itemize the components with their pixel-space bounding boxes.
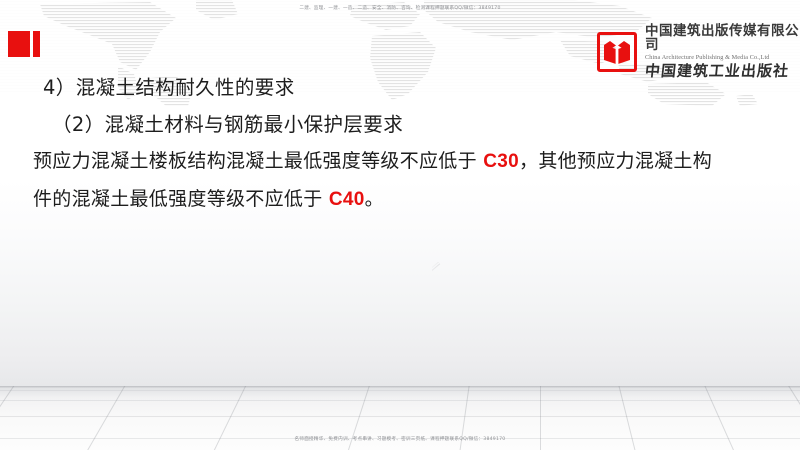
body-line-1-text-before: 预应力混凝土楼板结构混凝土最低强度等级不应低于 — [33, 150, 483, 172]
publisher-company-name-cn: 中国建筑出版传媒有限公司 — [645, 25, 800, 52]
red-block-decoration — [8, 31, 30, 57]
publisher-logo-text: 中国建筑出版传媒有限公司 China Architecture Publishi… — [645, 25, 800, 79]
background-swoosh-accent — [432, 262, 492, 312]
red-bar-decoration — [33, 31, 40, 57]
body-line-2-text-before: 件的混凝土最低强度等级不应低于 — [33, 188, 329, 210]
body-line-2: 件的混凝土最低强度等级不应低于 C40。 — [33, 185, 800, 214]
concrete-grade-c30: C30 — [483, 151, 519, 172]
body-line-1-text-after: ，其他预应力混凝土构 — [519, 150, 712, 172]
body-line-2-text-after: 。 — [365, 188, 384, 210]
slide-content: 4）混凝土结构耐久性的要求 （2）混凝土材料与钢筋最小保护层要求 预应力混凝土楼… — [0, 74, 800, 214]
slide-canvas: 中国建筑出版传媒有限公司 China Architecture Publishi… — [0, 0, 800, 450]
watermark-top: 二建、监理、一建、一造、二造、安全、消防、咨询、检测课程押题联系QQ/微信：38… — [0, 5, 800, 11]
heading-level-2: （2）混凝土材料与钢筋最小保护层要求 — [52, 111, 800, 139]
body-line-1: 预应力混凝土楼板结构混凝土最低强度等级不应低于 C30，其他预应力混凝土构 — [33, 147, 800, 176]
watermark-bottom: 名师面授精华、免费内训、考点串讲、习题模考、密训三页纸、课程押题联系QQ/微信：… — [0, 436, 800, 442]
heading-level-1: 4）混凝土结构耐久性的要求 — [43, 74, 800, 102]
concrete-grade-c40: C40 — [329, 189, 365, 210]
publisher-logo: 中国建筑出版传媒有限公司 China Architecture Publishi… — [597, 25, 800, 79]
publisher-company-name-en: China Architecture Publishing & Media Co… — [645, 55, 800, 61]
publisher-book-logo-icon — [597, 32, 637, 72]
